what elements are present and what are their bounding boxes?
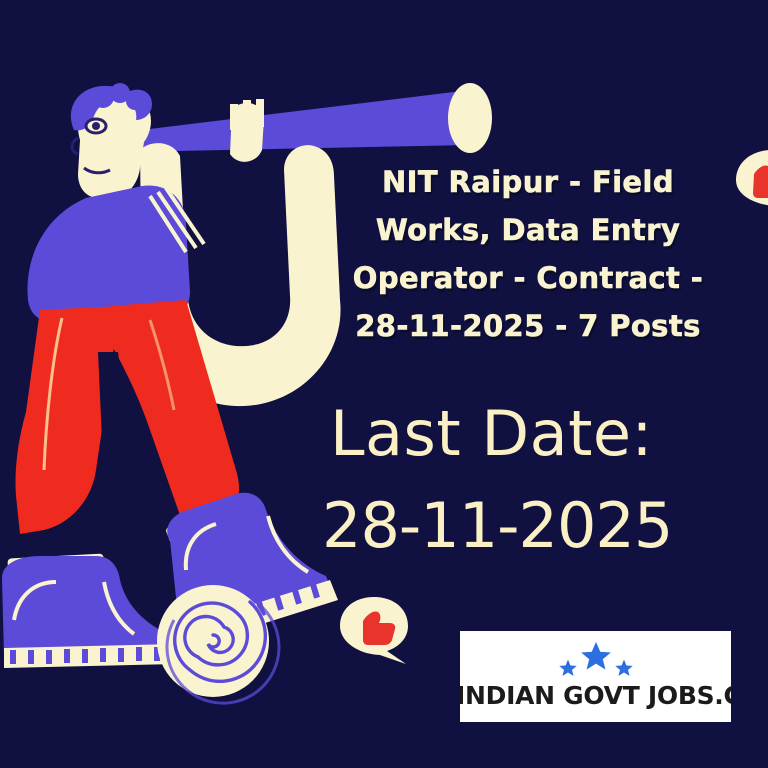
spiral-wheel	[157, 585, 279, 703]
star-icon-center	[579, 639, 613, 673]
headline-line-4: 28-11-2025 - 7 Posts	[318, 302, 738, 350]
star-icon-right	[614, 658, 634, 678]
figure-head	[71, 83, 152, 198]
figure-front-arm	[140, 143, 341, 406]
figure-shirt	[27, 185, 204, 324]
last-date-value: 28-11-2025	[322, 480, 768, 572]
figure-back-arm	[230, 99, 264, 162]
sparkle	[118, 112, 132, 124]
star-icon-left	[558, 658, 578, 678]
thumbs-up-bubble-bottom	[336, 594, 418, 668]
headline-line-2: Works, Data Entry	[318, 206, 738, 254]
headline-line-1: NIT Raipur - Field	[318, 158, 738, 206]
headline: NIT Raipur - Field Works, Data Entry Ope…	[318, 158, 738, 350]
figure-pants	[15, 300, 239, 538]
watermark-logo-box: INDIAN GOVT JOBS.CO.IN	[460, 631, 731, 722]
pant-cuff-front	[165, 497, 251, 549]
last-date-label: Last Date:	[330, 388, 768, 480]
star-group	[460, 644, 731, 678]
pant-cuff-back	[7, 554, 104, 583]
watermark-site-name: INDIAN GOVT JOBS.CO.IN	[460, 681, 731, 710]
poster-canvas: NIT Raipur - Field Works, Data Entry Ope…	[0, 0, 768, 768]
last-date-block: Last Date: 28-11-2025	[330, 388, 768, 572]
boot-back	[2, 556, 176, 668]
telescope-icon	[125, 83, 492, 153]
boot-front	[167, 493, 338, 648]
headline-line-3: Operator - Contract -	[318, 254, 738, 302]
